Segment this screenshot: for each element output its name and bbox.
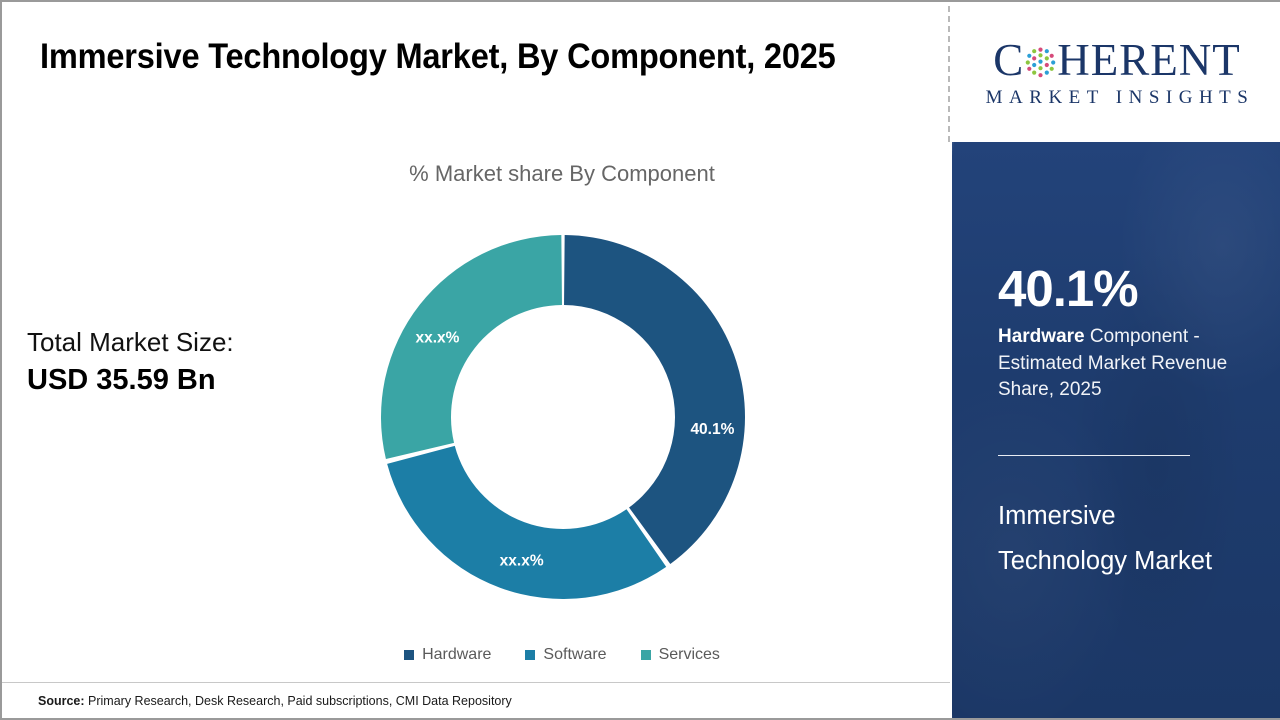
donut-slice-software[interactable] [387,446,666,599]
legend-label: Services [659,646,720,664]
logo-wordmark-text: HERENT [1057,37,1240,83]
stat-panel-content: 40.1% Hardware Component - Estimated Mar… [952,142,1280,718]
donut-chart: 40.1% xx.x% xx.x% [380,234,746,600]
source-text: Source: Primary Research, Desk Research,… [38,694,512,708]
legend-label: Hardware [422,646,491,664]
market-size-value: USD 35.59 Bn [27,361,327,399]
logo: C [952,4,1280,142]
logo-tagline: MARKET INSIGHTS [980,87,1255,109]
legend-swatch-icon [525,650,535,660]
donut-slice-hardware[interactable] [564,235,745,564]
globe-icon [1025,47,1056,78]
source-footer: Source: Primary Research, Desk Research,… [2,682,950,718]
brand-sidebar: C [952,2,1280,718]
page-title: Immersive Technology Market, By Componen… [40,32,840,82]
donut-label-software: xx.x% [500,552,544,569]
logo-wordmark: C [993,37,1241,83]
donut-label-services: xx.x% [416,330,460,347]
logo-letter-c: C [993,37,1024,83]
donut-chart-svg: 40.1% xx.x% xx.x% [380,234,746,600]
infographic-page: Immersive Technology Market, By Componen… [0,0,1280,720]
source-label: Source: [38,694,85,708]
legend-swatch-icon [641,650,651,660]
legend-swatch-icon [404,650,414,660]
legend-item-hardware[interactable]: Hardware [404,646,491,664]
stat-panel: 40.1% Hardware Component - Estimated Mar… [952,142,1280,718]
legend-item-services[interactable]: Services [641,646,720,664]
legend-item-software[interactable]: Software [525,646,606,664]
stat-value: 40.1% [998,262,1138,316]
source-detail: Primary Research, Desk Research, Paid su… [85,694,512,708]
legend-label: Software [543,646,606,664]
donut-slices [381,235,745,599]
donut-slice-services[interactable] [381,235,562,459]
panel-divider-rule [998,455,1190,456]
donut-label-hardware: 40.1% [690,421,734,438]
market-size-label: Total Market Size: [27,324,327,360]
panel-divider [948,6,950,142]
panel-market-name: Immersive Technology Market [998,494,1228,584]
stat-description-strong: Hardware [998,326,1085,347]
chart-subtitle: % Market share By Component [262,161,862,187]
stat-description: Hardware Component - Estimated Market Re… [998,324,1246,404]
total-market-size: Total Market Size: USD 35.59 Bn [27,324,327,399]
chart-panel: Immersive Technology Market, By Componen… [2,2,950,718]
chart-legend: Hardware Software Services [302,646,822,664]
